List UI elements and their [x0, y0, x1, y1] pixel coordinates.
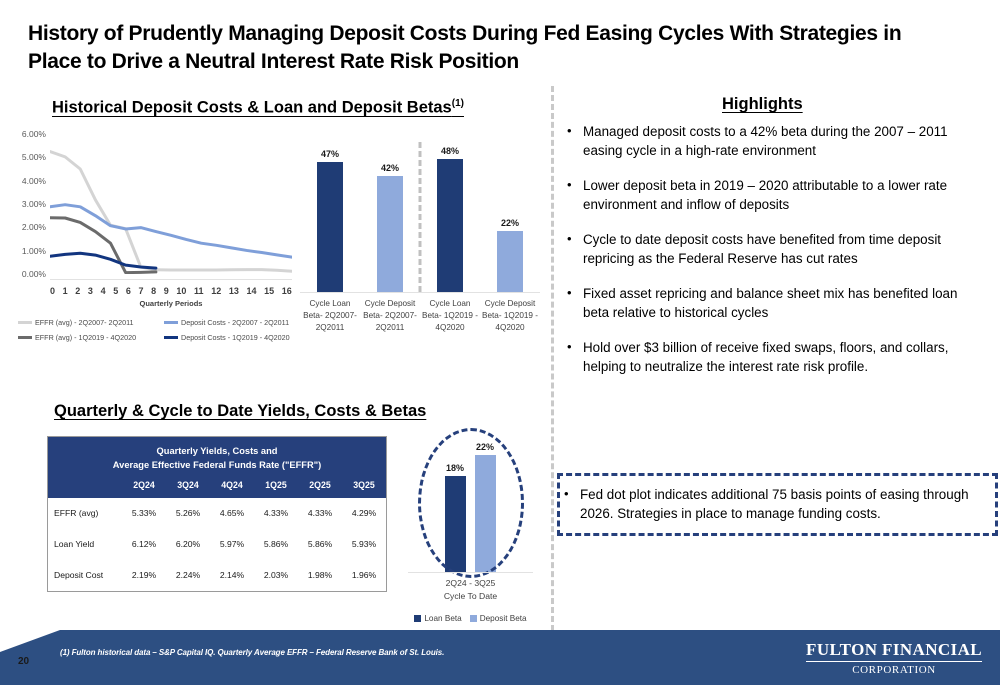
category-label-line: 2Q2011 [361, 322, 419, 334]
list-item: • Fed dot plot indicates additional 75 b… [564, 485, 985, 523]
line-chart-x-tick: 14 [246, 286, 256, 296]
legend-label: Deposit Beta [480, 614, 527, 623]
table-title-line1: Quarterly Yields, Costs and [54, 445, 380, 459]
bullet-icon: • [564, 485, 580, 523]
line-chart-y-tick: 1.00% [22, 246, 46, 256]
bar-column: 48% [420, 140, 480, 292]
category-label-line: Cycle Loan [421, 298, 479, 310]
table-cell: 4.65% [210, 508, 254, 518]
category-label-line: 2Q2011 [301, 322, 359, 334]
table-column-header: 3Q25 [342, 480, 386, 490]
category-label-line: Beta- 1Q2019 - [481, 310, 539, 322]
line-chart-x-axis-title: Quarterly Periods [50, 299, 292, 308]
bar-category-label: Cycle DepositBeta- 2Q2007-2Q2011 [360, 298, 420, 334]
x-label-line2: Cycle To Date [398, 590, 543, 603]
table-cell: 1.96% [342, 570, 386, 580]
cycle-to-date-x-label: 2Q24 - 3Q25 Cycle To Date [398, 577, 543, 603]
bullet-icon: • [567, 284, 583, 322]
legend-label: EFFR (avg) - 2Q2007- 2Q2011 [35, 318, 134, 327]
line-chart-legend: EFFR (avg) - 2Q2007- 2Q2011 Deposit Cost… [18, 318, 310, 348]
category-label-line: Cycle Deposit [481, 298, 539, 310]
bar-category-label: Cycle LoanBeta- 1Q2019 -4Q2020 [420, 298, 480, 334]
table-cell: 2.19% [122, 570, 166, 580]
line-chart-y-tick: 0.00% [22, 269, 46, 279]
cycle-to-date-beta-chart: 18%22% 2Q24 - 3Q25 Cycle To Date Loan Be… [398, 424, 543, 629]
table-cell: 6.12% [122, 539, 166, 549]
historical-line-chart: 012345678910111213141516 Quarterly Perio… [8, 128, 298, 308]
line-chart-y-tick: 4.00% [22, 176, 46, 186]
historical-heading-text: Historical Deposit Costs & Loan and Depo… [52, 99, 452, 117]
line-chart-x-tick: 2 [75, 286, 80, 296]
table-cell: 4.33% [298, 508, 342, 518]
quarterly-yields-table: Quarterly Yields, Costs and Average Effe… [47, 436, 387, 592]
line-chart-x-tick: 15 [264, 286, 274, 296]
table-cell: 5.86% [254, 539, 298, 549]
category-label-line: 4Q2020 [481, 322, 539, 334]
legend-item: Loan Beta [414, 614, 461, 623]
legend-item: Deposit Costs - 1Q2019 - 4Q2020 [164, 333, 310, 342]
bar-chart-baseline [300, 292, 540, 293]
highlight-text: Fixed asset repricing and balance sheet … [583, 284, 987, 322]
bar-column: 42% [360, 140, 420, 292]
table-column-header: 3Q24 [166, 480, 210, 490]
table-cell: 1.98% [298, 570, 342, 580]
legend-label: Deposit Costs - 1Q2019 - 4Q2020 [181, 333, 290, 342]
table-cell: 4.33% [254, 508, 298, 518]
bar-category-label: Cycle DepositBeta- 1Q2019 -4Q2020 [480, 298, 540, 334]
table-row-label: EFFR (avg) [48, 508, 122, 518]
line-chart-x-tick: 1 [63, 286, 68, 296]
table-column-header: 4Q24 [210, 480, 254, 490]
line-series [50, 253, 156, 268]
category-label-line: Beta- 1Q2019 - [421, 310, 479, 322]
page-number: 20 [18, 656, 29, 667]
table-body: EFFR (avg)5.33%5.26%4.65%4.33%4.33%4.29%… [48, 498, 386, 591]
line-chart-y-tick: 2.00% [22, 222, 46, 232]
highlight-text: Managed deposit costs to a 42% beta duri… [583, 122, 987, 160]
slide: History of Prudently Managing Deposit Co… [0, 0, 1000, 685]
bullet-icon: • [567, 122, 583, 160]
table-cell: 5.33% [122, 508, 166, 518]
highlight-ellipse [418, 428, 524, 578]
cycle-beta-bar-chart: 47%42%48%22% Cycle LoanBeta- 2Q2007-2Q20… [300, 140, 540, 355]
legend-row: EFFR (avg) - 1Q2019 - 4Q2020 Deposit Cos… [18, 333, 310, 342]
legend-item: Deposit Costs - 2Q2007 - 2Q2011 [164, 318, 310, 327]
table-cell: 2.03% [254, 570, 298, 580]
highlight-text: Cycle to date deposit costs have benefit… [583, 230, 987, 268]
page-title: History of Prudently Managing Deposit Co… [28, 20, 948, 76]
line-series [50, 205, 292, 258]
bar-value-label: 42% [381, 163, 399, 173]
table-column-header: 1Q25 [254, 480, 298, 490]
category-label-line: Cycle Loan [301, 298, 359, 310]
quarterly-section-heading: Quarterly & Cycle to Date Yields, Costs … [54, 402, 426, 421]
table-title: Quarterly Yields, Costs and Average Effe… [48, 437, 386, 476]
table-cell: 5.97% [210, 539, 254, 549]
line-chart-y-tick: 3.00% [22, 199, 46, 209]
line-chart-x-tick: 5 [113, 286, 118, 296]
bar-column: 22% [480, 140, 540, 292]
table-row: Deposit Cost2.19%2.24%2.14%2.03%1.98%1.9… [48, 560, 386, 591]
line-chart-x-tick: 3 [88, 286, 93, 296]
footnote-marker: (1) [452, 98, 464, 109]
bullet-icon: • [567, 176, 583, 214]
table-cell: 2.24% [166, 570, 210, 580]
table-row-label: Deposit Cost [48, 570, 122, 580]
legend-swatch-icon [164, 321, 178, 325]
highlight-text: Fed dot plot indicates additional 75 bas… [580, 485, 985, 523]
bar [377, 176, 403, 292]
list-item: •Cycle to date deposit costs have benefi… [567, 230, 987, 268]
x-label-line1: 2Q24 - 3Q25 [398, 577, 543, 590]
highlight-boxed-callout: • Fed dot plot indicates additional 75 b… [557, 473, 998, 536]
line-chart-plot-area [50, 134, 292, 274]
footer: (1) Fulton historical data – S&P Capital… [0, 630, 1000, 685]
legend-swatch-icon [18, 336, 32, 340]
list-item: •Lower deposit beta in 2019 – 2020 attri… [567, 176, 987, 214]
line-chart-x-ticks: 012345678910111213141516 [50, 286, 292, 296]
table-row-label: Loan Yield [48, 539, 122, 549]
legend-label: Deposit Costs - 2Q2007 - 2Q2011 [181, 318, 289, 327]
cycle-to-date-legend: Loan Beta Deposit Beta [398, 614, 543, 623]
legend-swatch-icon [164, 336, 178, 340]
line-chart-x-tick: 10 [176, 286, 186, 296]
highlights-list: •Managed deposit costs to a 42% beta dur… [567, 122, 987, 392]
legend-row: EFFR (avg) - 2Q2007- 2Q2011 Deposit Cost… [18, 318, 310, 327]
table-cell: 4.29% [342, 508, 386, 518]
legend-label: Loan Beta [424, 614, 461, 623]
bar-value-label: 22% [501, 218, 519, 228]
legend-item: EFFR (avg) - 1Q2019 - 4Q2020 [18, 333, 164, 342]
line-chart-x-tick: 7 [138, 286, 143, 296]
category-label-line: Beta- 2Q2007- [361, 310, 419, 322]
legend-item: Deposit Beta [470, 614, 527, 623]
logo-secondary-text: CORPORATION [806, 664, 982, 676]
legend-item: EFFR (avg) - 2Q2007- 2Q2011 [18, 318, 164, 327]
line-chart-x-tick: 13 [229, 286, 239, 296]
table-title-line2: Average Effective Federal Funds Rate ("E… [54, 459, 380, 473]
bar-chart-category-labels: Cycle LoanBeta- 2Q2007-2Q2011Cycle Depos… [300, 298, 540, 334]
bar-value-label: 47% [321, 149, 339, 159]
footnote-text: (1) Fulton historical data – S&P Capital… [60, 648, 444, 657]
legend-swatch-icon [470, 615, 477, 622]
table-cell: 2.14% [210, 570, 254, 580]
table-column-header: 2Q25 [298, 480, 342, 490]
bullet-icon: • [567, 230, 583, 268]
table-column-header: 2Q24 [122, 480, 166, 490]
line-chart-x-tick: 16 [282, 286, 292, 296]
line-chart-x-tick: 12 [211, 286, 221, 296]
vertical-divider [551, 86, 554, 631]
category-label-line: Cycle Deposit [361, 298, 419, 310]
line-chart-y-tick: 5.00% [22, 152, 46, 162]
category-label-line: 4Q2020 [421, 322, 479, 334]
list-item: •Managed deposit costs to a 42% beta dur… [567, 122, 987, 160]
line-chart-x-tick: 9 [164, 286, 169, 296]
bar [497, 231, 523, 292]
bar-value-label: 48% [441, 146, 459, 156]
line-chart-x-tick: 0 [50, 286, 55, 296]
list-item: •Fixed asset repricing and balance sheet… [567, 284, 987, 322]
cycle-to-date-baseline [408, 572, 533, 573]
line-chart-x-axis [50, 279, 292, 280]
legend-swatch-icon [18, 321, 32, 325]
table-column-headers: 2Q243Q244Q241Q252Q253Q25 [48, 476, 386, 498]
bar [437, 159, 463, 292]
category-label-line: Beta- 2Q2007- [301, 310, 359, 322]
line-chart-x-tick: 8 [151, 286, 156, 296]
table-cell: 5.26% [166, 508, 210, 518]
legend-swatch-icon [414, 615, 421, 622]
bar-category-label: Cycle LoanBeta- 2Q2007-2Q2011 [300, 298, 360, 334]
table-cell: 5.93% [342, 539, 386, 549]
table-row: EFFR (avg)5.33%5.26%4.65%4.33%4.33%4.29% [48, 498, 386, 529]
table-cell: 6.20% [166, 539, 210, 549]
bar-chart-separator [419, 142, 422, 292]
line-chart-x-tick: 11 [194, 286, 204, 296]
historical-section-heading: Historical Deposit Costs & Loan and Depo… [52, 98, 464, 118]
highlight-text: Lower deposit beta in 2019 – 2020 attrib… [583, 176, 987, 214]
line-chart-y-tick: 6.00% [22, 129, 46, 139]
company-logo: FULTON FINANCIAL CORPORATION [806, 640, 982, 676]
highlights-heading: Highlights [722, 95, 803, 114]
line-chart-x-tick: 4 [101, 286, 106, 296]
bar [317, 162, 343, 292]
legend-label: EFFR (avg) - 1Q2019 - 4Q2020 [35, 333, 136, 342]
bar-column: 47% [300, 140, 360, 292]
line-chart-svg [50, 134, 292, 274]
list-item: •Hold over $3 billion of receive fixed s… [567, 338, 987, 376]
bullet-icon: • [567, 338, 583, 376]
line-chart-x-tick: 6 [126, 286, 131, 296]
logo-primary-text: FULTON FINANCIAL [806, 640, 982, 662]
table-row: Loan Yield6.12%6.20%5.97%5.86%5.86%5.93% [48, 529, 386, 560]
table-corner-cell [48, 480, 122, 490]
table-cell: 5.86% [298, 539, 342, 549]
highlight-text: Hold over $3 billion of receive fixed sw… [583, 338, 987, 376]
